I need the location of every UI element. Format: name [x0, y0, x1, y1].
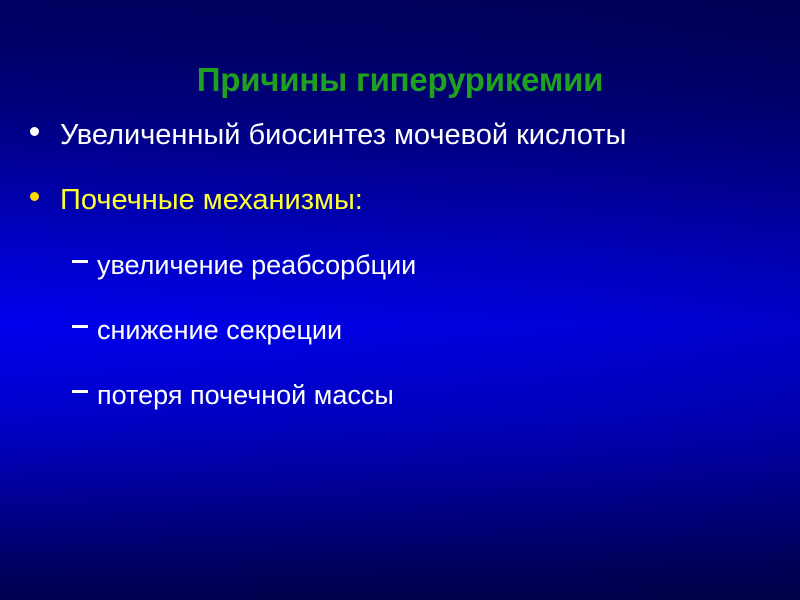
sub-list-item: увеличение реабсорбции [0, 248, 800, 313]
slide-title: Причины гиперурикемии [0, 60, 800, 100]
list-item: Почечные механизмы: [0, 183, 800, 248]
bullet-dash-icon [72, 391, 97, 409]
bullet-dot-icon [30, 185, 60, 215]
sub-list-item-label: потеря почечной массы [97, 378, 394, 412]
sub-list-item-label: снижение секреции [97, 313, 342, 347]
bullet-dot-icon [30, 120, 60, 150]
list-item-label: Увеличенный биосинтез мочевой кислоты [60, 118, 626, 152]
presentation-slide: Причины гиперурикемии Увеличенный биосин… [0, 0, 800, 600]
slide-content: Причины гиперурикемии Увеличенный биосин… [0, 0, 800, 600]
slide-body-list: Увеличенный биосинтез мочевой кислоты По… [0, 118, 800, 443]
bullet-dash-icon [72, 326, 97, 344]
list-item: Увеличенный биосинтез мочевой кислоты [0, 118, 800, 183]
bullet-dash-icon [72, 261, 97, 279]
sub-list-item: потеря почечной массы [0, 378, 800, 443]
sub-list-item: снижение секреции [0, 313, 800, 378]
list-item-label: Почечные механизмы: [60, 183, 363, 217]
sub-list-item-label: увеличение реабсорбции [97, 248, 416, 282]
